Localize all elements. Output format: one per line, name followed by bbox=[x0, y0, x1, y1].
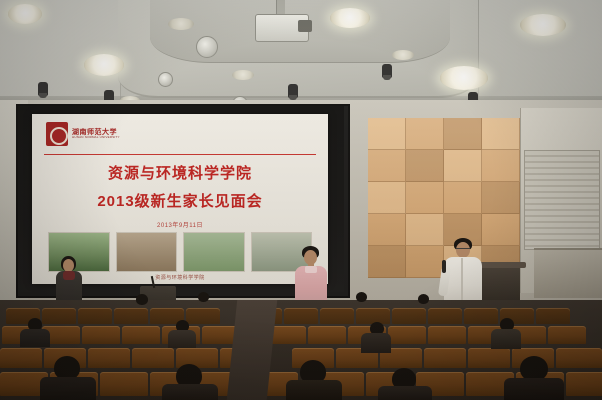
audience-body bbox=[168, 330, 196, 348]
audience-body bbox=[20, 329, 50, 347]
slide-title-line-2: 2013级新生家长见面会 bbox=[32, 190, 328, 211]
track-light-icon bbox=[38, 82, 48, 96]
audience-body bbox=[286, 380, 342, 400]
ceiling-light-icon bbox=[330, 8, 370, 28]
audience-body bbox=[162, 384, 218, 400]
ceiling-light-icon bbox=[520, 14, 566, 36]
track-light-icon bbox=[382, 64, 392, 78]
lecture-hall-photo: 湖南师范大学 HUNAN NORMAL UNIVERSITY 资源与环境科学学院… bbox=[0, 0, 602, 400]
track-light-icon bbox=[288, 84, 298, 98]
audience-head bbox=[418, 294, 429, 304]
ceiling-light-icon bbox=[168, 18, 194, 30]
ceiling-light-icon bbox=[392, 50, 414, 60]
university-logo-mark-icon bbox=[46, 122, 68, 146]
ceiling-light-icon bbox=[440, 66, 488, 90]
ceiling-light-icon bbox=[232, 70, 254, 80]
shirt-placket bbox=[461, 258, 463, 302]
slide-photo-3 bbox=[183, 232, 245, 272]
audience-body bbox=[491, 329, 521, 349]
wall-vent-grill bbox=[524, 150, 600, 250]
ceiling-speaker-icon bbox=[158, 72, 173, 87]
audience-body bbox=[504, 378, 564, 400]
handheld-microphone-icon bbox=[442, 260, 446, 273]
audience-body bbox=[378, 386, 432, 400]
slide-photo-strip bbox=[48, 232, 312, 272]
audience-body bbox=[40, 377, 96, 400]
audience-head bbox=[198, 292, 209, 302]
audience-head bbox=[136, 294, 148, 305]
slide-title-line-1: 资源与环境科学学院 bbox=[32, 162, 328, 183]
projector-lens-icon bbox=[298, 20, 312, 32]
audience-head bbox=[356, 292, 367, 302]
shirt-collar bbox=[305, 266, 317, 273]
university-logo: 湖南师范大学 HUNAN NORMAL UNIVERSITY bbox=[46, 122, 120, 146]
side-door bbox=[534, 248, 602, 298]
slide-photo-2 bbox=[116, 232, 178, 272]
university-logo-name-en: HUNAN NORMAL UNIVERSITY bbox=[72, 136, 120, 139]
audience-body bbox=[361, 333, 391, 353]
glasses-icon bbox=[456, 248, 470, 253]
slide-divider bbox=[44, 154, 316, 155]
ceiling-speaker-icon bbox=[196, 36, 218, 58]
scarf bbox=[63, 271, 75, 280]
slide-date: 2013年9月11日 bbox=[32, 220, 328, 229]
ceiling-light-icon bbox=[8, 4, 42, 24]
torso bbox=[444, 257, 482, 305]
ceiling-light-icon bbox=[84, 54, 124, 76]
